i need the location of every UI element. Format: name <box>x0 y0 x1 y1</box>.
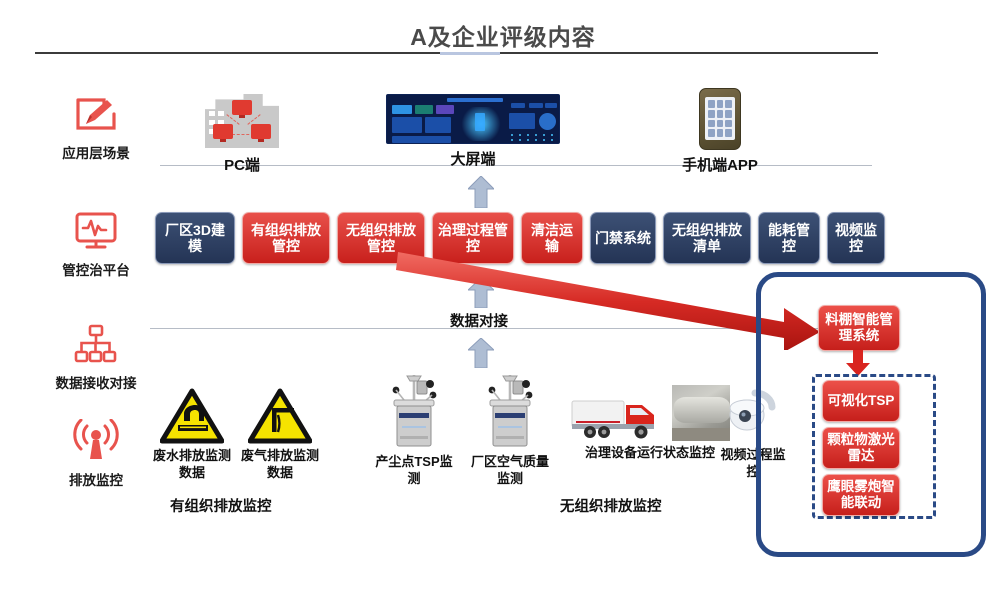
platform-button-3d-modeling[interactable]: 厂区3D建模 <box>155 212 235 264</box>
monitor-item-air-quality[interactable]: 厂区空气质量监测 <box>468 370 552 487</box>
antenna-signal-icon <box>40 415 152 467</box>
rail-item-label: 排放监控 <box>40 473 152 490</box>
app-item-label: PC端 <box>188 154 296 175</box>
up-arrow-icon <box>468 176 494 208</box>
wastewater-warning-icon <box>160 388 224 444</box>
rail-item-label: 应用层场景 <box>40 146 152 163</box>
pencil-edit-icon <box>40 88 152 140</box>
monitor-item-tsp[interactable]: 产尘点TSP监测 <box>372 370 456 487</box>
slide-root: A及企业评级内容 应用层场景 管控治平台 <box>0 0 1006 596</box>
air-quality-station-icon <box>482 370 538 450</box>
rail-item-emission-monitoring[interactable]: 排放监控 <box>40 415 152 490</box>
monitor-item-waste-gas[interactable]: 废气排放监测数据 <box>240 388 320 481</box>
panel-feature-eagle-eye-fog-cannon[interactable]: 鹰眼雾炮智能联动 <box>822 474 900 516</box>
monitor-item-wastewater[interactable]: 废水排放监测数据 <box>152 388 232 481</box>
rail-item-data-reception[interactable]: 数据接收对接 <box>40 318 152 393</box>
monitor-item-label: 厂区空气质量监测 <box>468 454 552 487</box>
page-title: A及企业评级内容 <box>0 18 1006 52</box>
platform-button-organized-emission[interactable]: 有组织排放管控 <box>242 212 330 264</box>
tsp-monitor-station-icon <box>386 370 442 450</box>
monitor-item-label: 废水排放监测数据 <box>152 448 232 481</box>
monitor-item-label: 产尘点TSP监测 <box>372 454 456 487</box>
app-item-label: 手机端APP <box>650 154 790 175</box>
monitor-item-label: 治理设备运行状态监控 <box>570 445 730 462</box>
monitor-group-label-unorganized: 无组织排放监控 <box>560 495 662 516</box>
monitor-group-label-organized: 有组织排放监控 <box>170 495 272 516</box>
app-item-mobile[interactable]: 手机端APP <box>650 88 790 175</box>
dashboard-screen-image <box>386 94 560 144</box>
title-divider-accent <box>440 52 500 55</box>
app-item-label: 大屏端 <box>385 148 561 169</box>
truck-icon <box>570 393 666 441</box>
monitor-item-treatment-equipment[interactable]: 治理设备运行状态监控 <box>570 385 730 462</box>
monitor-waveform-icon <box>40 205 152 257</box>
app-item-big-screen[interactable]: 大屏端 <box>385 90 561 169</box>
rail-item-application-layer[interactable]: 应用层场景 <box>40 88 152 163</box>
rail-item-label: 管控治平台 <box>40 263 152 280</box>
panel-feature-particulate-lidar[interactable]: 颗粒物激光雷达 <box>822 427 900 469</box>
panel-head-smart-shed-system[interactable]: 料棚智能管理系统 <box>818 305 900 351</box>
monitor-item-label: 废气排放监测数据 <box>240 448 320 481</box>
building-network-icon <box>199 92 285 150</box>
rugged-phone-icon <box>699 88 741 150</box>
rail-item-label: 数据接收对接 <box>40 376 152 393</box>
rail-item-control-platform[interactable]: 管控治平台 <box>40 205 152 280</box>
app-item-pc[interactable]: PC端 <box>188 92 296 175</box>
waste-gas-warning-icon <box>248 388 312 444</box>
org-chart-icon <box>40 318 152 370</box>
panel-feature-visual-tsp[interactable]: 可视化TSP <box>822 380 900 422</box>
